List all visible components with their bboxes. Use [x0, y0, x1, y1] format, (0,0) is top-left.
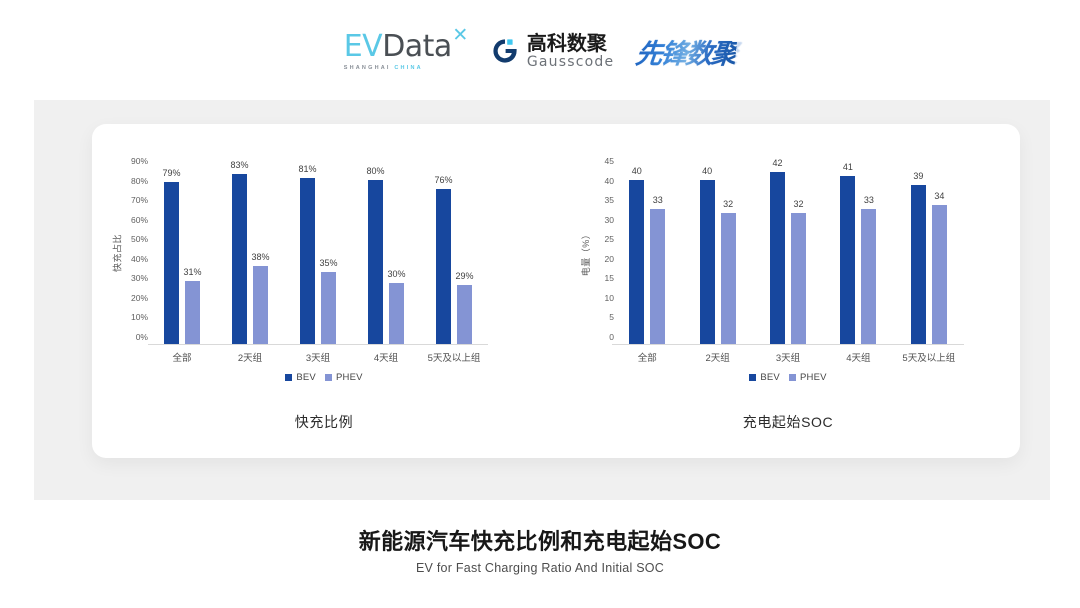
chart-initial-soc: 电量（%） 454035302520151050 403340324232413… [556, 124, 1020, 458]
bar-value-label: 33 [864, 196, 874, 205]
bar-bev[interactable]: 40 [700, 160, 715, 344]
page-title: 新能源汽车快充比例和充电起始SOC [0, 528, 1080, 556]
legend-left: BEV PHEV [92, 372, 556, 383]
bar-phev[interactable]: 33 [650, 160, 665, 344]
bar-phev[interactable]: 38% [253, 160, 268, 344]
bar-bev[interactable]: 80% [368, 160, 383, 344]
bar-value-label: 29% [455, 272, 473, 281]
evdata-data-text: Data [382, 29, 452, 64]
bar-value-label: 81% [298, 165, 316, 174]
x-tick-label: 5天及以上组 [420, 350, 488, 364]
x-tick-label: 2天组 [682, 350, 752, 364]
chart-caption-right: 充电起始SOC [556, 412, 1020, 432]
y-tick-label: 20% [131, 294, 148, 303]
bar-value-label: 38% [251, 253, 269, 262]
bar-group: 4032 [682, 160, 752, 344]
legend-swatch-bev-icon [285, 374, 292, 381]
evdata-tagline-country: CHINA [394, 65, 422, 71]
evdata-wordmark: EVData ✕ [344, 32, 452, 62]
bar-phev[interactable]: 34 [932, 160, 947, 344]
logo-xianfeng-shuju: 先锋数聚 [634, 32, 738, 71]
x-tick-label: 3天组 [284, 350, 352, 364]
legend-swatch-phev-icon [325, 374, 332, 381]
bar-rect [436, 189, 451, 344]
bar-phev[interactable]: 32 [721, 160, 736, 344]
bar-bev[interactable]: 76% [436, 160, 451, 344]
bar-value-label: 83% [230, 161, 248, 170]
bar-bev[interactable]: 41 [840, 160, 855, 344]
bar-phev[interactable]: 35% [321, 160, 336, 344]
bar-value-label: 40 [632, 167, 642, 176]
bar-group: 4232 [753, 160, 823, 344]
bar-phev[interactable]: 29% [457, 160, 472, 344]
plot-area-right: 电量（%） 454035302520151050 403340324232413… [556, 124, 1020, 382]
gausscode-text-block: 高科数聚 Gausscode [527, 33, 614, 69]
legend-item-bev[interactable]: BEV [749, 372, 780, 383]
bar-bev[interactable]: 40 [629, 160, 644, 344]
bar-phev[interactable]: 30% [389, 160, 404, 344]
y-tick-label: 60% [131, 216, 148, 225]
y-tick-label: 90% [131, 157, 148, 166]
bar-rect [253, 266, 268, 344]
y-tick-label: 50% [131, 235, 148, 244]
bar-rect [232, 174, 247, 344]
x-tick-label: 4天组 [352, 350, 420, 364]
legend-label-phev: PHEV [800, 372, 827, 383]
y-tick-label: 10% [131, 313, 148, 322]
bar-rect [861, 209, 876, 344]
bar-bev[interactable]: 81% [300, 160, 315, 344]
bar-value-label: 30% [387, 270, 405, 279]
bar-value-label: 42 [773, 159, 783, 168]
bar-value-label: 80% [366, 167, 384, 176]
bar-rect [300, 178, 315, 344]
gausscode-en-name: Gausscode [527, 55, 614, 69]
x-spark-icon: ✕ [452, 26, 467, 45]
bar-group: 79%31% [148, 160, 216, 344]
x-axis-labels-left: 全部2天组3天组4天组5天及以上组 [148, 350, 488, 364]
legend-label-bev: BEV [760, 372, 780, 383]
legend-item-phev[interactable]: PHEV [325, 372, 363, 383]
y-axis-ticks-left: 90%80%70%60%50%40%30%20%10%0% [114, 160, 148, 344]
bar-rect [791, 213, 806, 344]
y-tick-label: 30% [131, 274, 148, 283]
bar-value-label: 40 [702, 167, 712, 176]
plot-area-left: 快充占比 90%80%70%60%50%40%30%20%10%0% 79%31… [92, 124, 556, 382]
bar-value-label: 79% [162, 169, 180, 178]
x-tick-label: 4天组 [823, 350, 893, 364]
logo-bar: EVData ✕ SHANGHAI CHINA 高科数聚 Gausscode 先… [0, 22, 1080, 80]
x-tick-label: 全部 [148, 350, 216, 364]
bar-value-label: 32 [794, 200, 804, 209]
evdata-ev-text: EV [344, 29, 382, 64]
bar-group: 3934 [894, 160, 964, 344]
bar-value-label: 33 [653, 196, 663, 205]
bar-rect [368, 180, 383, 344]
bar-value-label: 35% [319, 259, 337, 268]
bars-canvas-left: 79%31%83%38%81%35%80%30%76%29% [148, 160, 488, 345]
legend-right: BEV PHEV [556, 372, 1020, 383]
logo-gausscode: 高科数聚 Gausscode [490, 33, 614, 69]
bar-rect [650, 209, 665, 344]
bar-group: 80%30% [352, 160, 420, 344]
bar-value-label: 39 [913, 172, 923, 181]
legend-label-phev: PHEV [336, 372, 363, 383]
x-tick-label: 5天及以上组 [894, 350, 964, 364]
bar-value-label: 76% [434, 176, 452, 185]
bar-bev[interactable]: 79% [164, 160, 179, 344]
bar-group: 4033 [612, 160, 682, 344]
bars-canvas-right: 40334032423241333934 [612, 160, 964, 345]
bar-rect [721, 213, 736, 344]
gausscode-cn-name: 高科数聚 [527, 33, 614, 53]
bar-rect [911, 185, 926, 344]
bar-rect [457, 285, 472, 344]
bar-value-label: 31% [183, 268, 201, 277]
y-tick-label: 0% [136, 333, 148, 342]
evdata-tagline-city: SHANGHAI [344, 65, 391, 71]
legend-swatch-phev-icon [789, 374, 796, 381]
y-axis-ticks-right: 454035302520151050 [580, 160, 614, 344]
y-tick-label: 40% [131, 255, 148, 264]
bar-group: 76%29% [420, 160, 488, 344]
bar-phev[interactable]: 33 [861, 160, 876, 344]
chart-fast-charging-ratio: 快充占比 90%80%70%60%50%40%30%20%10%0% 79%31… [92, 124, 556, 458]
legend-label-bev: BEV [296, 372, 316, 383]
chart-caption-left: 快充比例 [92, 412, 556, 432]
footer-titles: 新能源汽车快充比例和充电起始SOC EV for Fast Charging R… [0, 528, 1080, 575]
bar-rect [185, 281, 200, 344]
charts-row: 快充占比 90%80%70%60%50%40%30%20%10%0% 79%31… [92, 124, 1020, 458]
x-tick-label: 全部 [612, 350, 682, 364]
x-tick-label: 3天组 [753, 350, 823, 364]
bar-value-label: 41 [843, 163, 853, 172]
bar-bev[interactable]: 42 [770, 160, 785, 344]
evdata-tagline: SHANGHAI CHINA [344, 65, 423, 71]
y-tick-label: 70% [131, 196, 148, 205]
bar-group: 81%35% [284, 160, 352, 344]
bar-rect [321, 272, 336, 344]
bar-rect [700, 180, 715, 344]
y-tick-label: 80% [131, 177, 148, 186]
bar-value-label: 34 [934, 192, 944, 201]
bar-value-label: 32 [723, 200, 733, 209]
page-subtitle: EV for Fast Charging Ratio And Initial S… [0, 561, 1080, 575]
bar-group: 83%38% [216, 160, 284, 344]
bar-rect [840, 176, 855, 344]
g-circle-icon [490, 36, 520, 66]
bar-rect [629, 180, 644, 344]
x-axis-labels-right: 全部2天组3天组4天组5天及以上组 [612, 350, 964, 364]
bar-group: 4133 [823, 160, 893, 344]
legend-swatch-bev-icon [749, 374, 756, 381]
bar-phev[interactable]: 32 [791, 160, 806, 344]
bar-phev[interactable]: 31% [185, 160, 200, 344]
bar-rect [770, 172, 785, 344]
x-tick-label: 2天组 [216, 350, 284, 364]
legend-item-phev[interactable]: PHEV [789, 372, 827, 383]
bar-rect [164, 182, 179, 344]
bar-bev[interactable]: 39 [911, 160, 926, 344]
bar-rect [932, 205, 947, 344]
bar-rect [389, 283, 404, 344]
legend-item-bev[interactable]: BEV [285, 372, 316, 383]
logo-evdata: EVData ✕ SHANGHAI CHINA [344, 32, 468, 71]
bar-bev[interactable]: 83% [232, 160, 247, 344]
